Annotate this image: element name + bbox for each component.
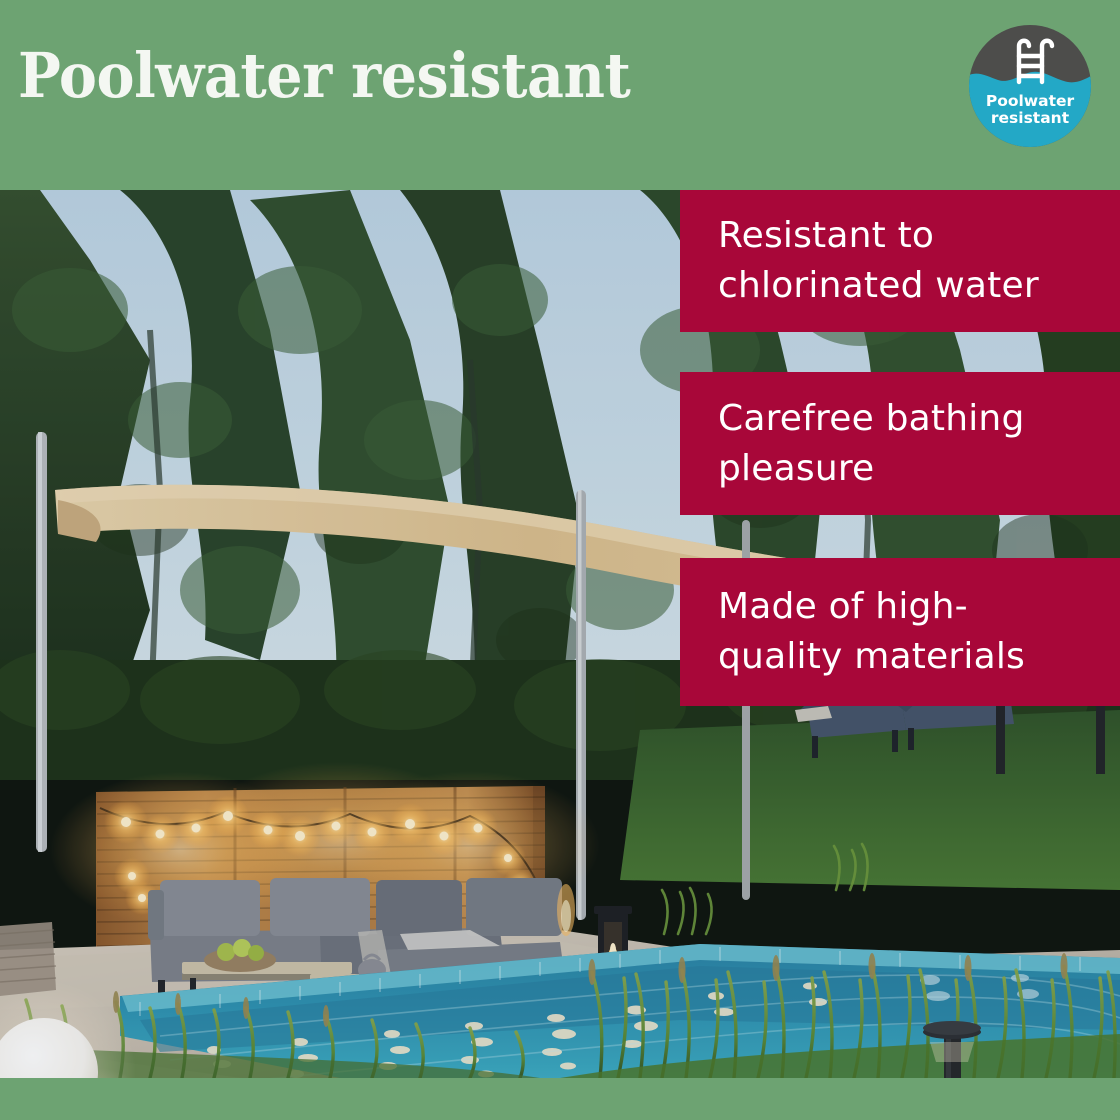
callout-high-quality-materials: Made of high-quality materials — [680, 558, 1120, 706]
callout-text: Carefree bathing pleasure — [718, 394, 1086, 494]
poolwater-resistant-badge: Poolwater resistant — [966, 22, 1094, 150]
badge-line-1: Poolwater — [986, 92, 1075, 110]
callout-resistant-chlorinated-water: Resistant to chlorinated water — [680, 190, 1120, 332]
infographic-page: Poolwater resistant — [0, 0, 1120, 1120]
badge-circle: Poolwater resistant — [966, 25, 1094, 150]
callout-text: Made of high-quality materials — [718, 582, 1086, 682]
badge-line-2: resistant — [991, 109, 1070, 127]
page-title: Poolwater resistant — [18, 41, 630, 111]
callout-text: Resistant to chlorinated water — [718, 211, 1086, 311]
header-band: Poolwater resistant — [0, 0, 1120, 190]
callout-carefree-bathing-pleasure: Carefree bathing pleasure — [680, 372, 1120, 515]
